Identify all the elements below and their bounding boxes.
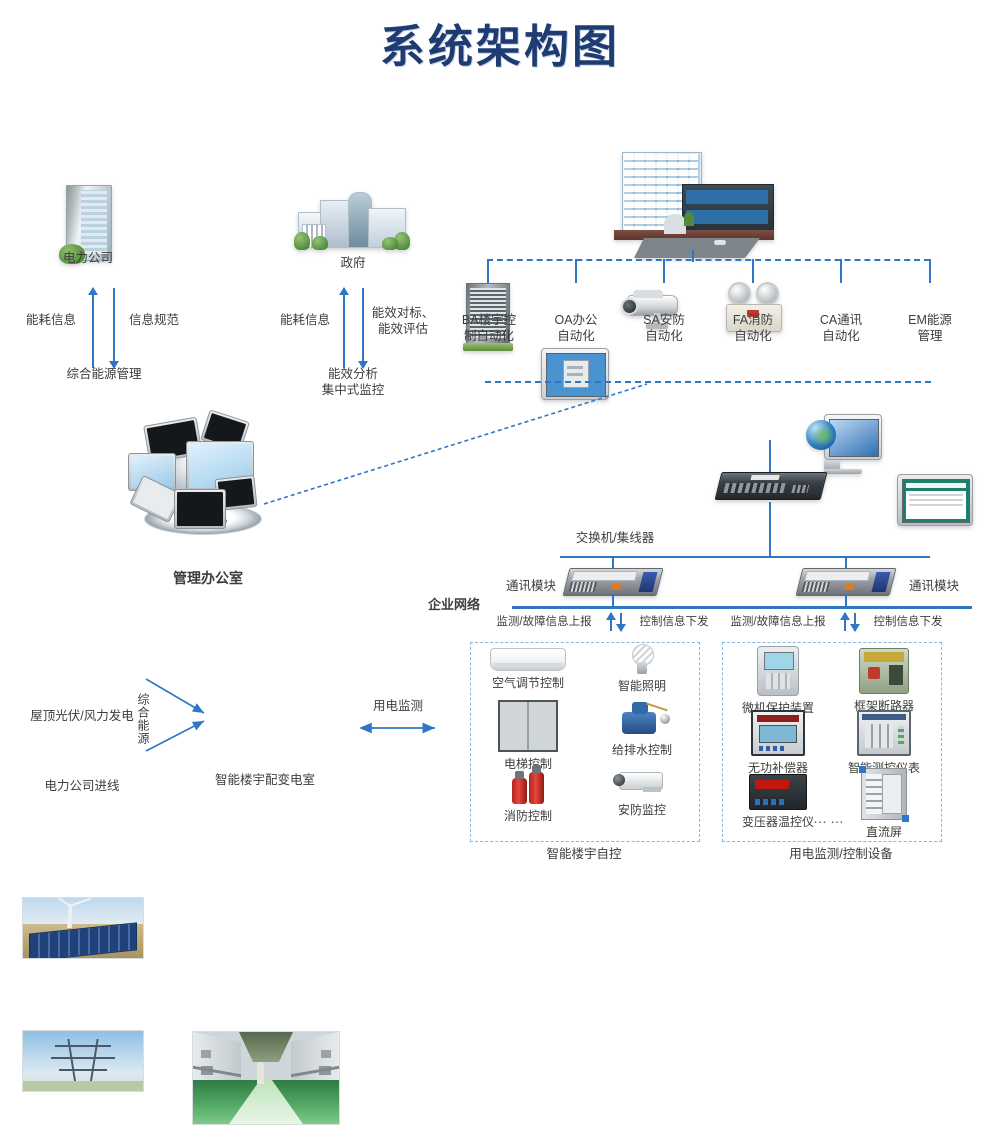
enterprise-network-label: 企业网络 bbox=[428, 597, 508, 613]
power-up-arrow bbox=[92, 288, 94, 368]
device-dc-panel: 直流屏 bbox=[828, 768, 940, 840]
surveillance-camera-icon bbox=[613, 768, 671, 798]
management-office-icon bbox=[128, 415, 278, 540]
comm-module-left-icon bbox=[566, 568, 662, 598]
comm-module-right-label: 通讯模块 bbox=[897, 578, 971, 594]
power-company-label: 电力公司 bbox=[30, 250, 146, 266]
automation-label-sa: SA安防 自动化 bbox=[618, 312, 710, 344]
device-fire-control: 消防控制 bbox=[472, 762, 584, 824]
comm-module-right-icon bbox=[799, 568, 895, 598]
mo-screen-7 bbox=[174, 489, 226, 529]
power-up-label: 能耗信息 bbox=[18, 312, 84, 328]
elevator-icon bbox=[498, 700, 558, 752]
switch-label: 交换机/集线器 bbox=[535, 530, 695, 546]
flow-up-arrow-2 bbox=[844, 613, 846, 631]
power-down-arrow bbox=[113, 288, 115, 368]
network-switch-icon bbox=[718, 472, 828, 502]
comm-distribution-bus bbox=[560, 556, 930, 558]
flow-down-arrow-2 bbox=[854, 613, 856, 631]
automation-label-em: EM能源 管理 bbox=[884, 312, 976, 344]
transformer-temp-controller-icon bbox=[749, 774, 807, 810]
automation-label-oa: OA办公 自动化 bbox=[530, 312, 622, 344]
device-security-monitoring: 安防监控 bbox=[586, 768, 698, 818]
enterprise-network-bus bbox=[512, 606, 972, 609]
circuit-breaker-icon bbox=[859, 648, 909, 694]
rooftop-pv-label: 屋顶光伏/风力发电 bbox=[12, 708, 152, 724]
device-air-conditioner: 空气调节控制 bbox=[472, 648, 584, 691]
page-title: 系统架构图 bbox=[0, 10, 1000, 75]
globe-monitor-icon bbox=[812, 414, 1000, 474]
bus-drop-6 bbox=[929, 259, 931, 283]
bus-drop-3 bbox=[663, 259, 665, 283]
substation-label: 智能楼宇配变电室 bbox=[190, 772, 340, 788]
flow-down-label-2: 控制信息下发 bbox=[860, 615, 956, 629]
automation-label-ca: CA通讯 自动化 bbox=[795, 312, 887, 344]
power-grid-incoming-icon bbox=[22, 1030, 144, 1092]
rooftop-pv-wind-icon bbox=[22, 897, 144, 959]
office-network-link bbox=[262, 378, 682, 508]
bus-drop-4 bbox=[752, 259, 754, 283]
air-conditioner-icon bbox=[490, 648, 566, 671]
reactive-compensator-icon bbox=[751, 710, 805, 756]
government-icon bbox=[298, 190, 408, 250]
automation-label-ba: BA楼宇控 制自动化 bbox=[443, 312, 535, 344]
gov-down-arrow bbox=[362, 288, 364, 368]
gov-down-label: 能效对标、 能效评估 bbox=[368, 305, 438, 337]
flow-up-label-2: 监测/故障信息上报 bbox=[718, 615, 838, 629]
power-grid-label: 电力公司进线 bbox=[22, 778, 142, 794]
substation-icon bbox=[192, 1031, 340, 1125]
device-label: 消防控制 bbox=[472, 807, 584, 824]
flow-up-arrow-1 bbox=[610, 613, 612, 631]
bus-drop-2 bbox=[575, 259, 577, 283]
energy-converge-arrows bbox=[140, 675, 220, 785]
power-down-label: 信息规范 bbox=[121, 312, 187, 328]
flow-down-arrow-1 bbox=[620, 613, 622, 631]
management-office-label: 管理办公室 bbox=[138, 570, 278, 586]
comm-right-downlink bbox=[845, 594, 847, 606]
fire-extinguisher-icon bbox=[504, 762, 552, 804]
government-label: 政府 bbox=[296, 255, 410, 271]
device-label: 空气调节控制 bbox=[472, 674, 584, 691]
power-monitor-label: 用电监测 bbox=[358, 698, 438, 714]
comm-left-downlink bbox=[612, 594, 614, 606]
gov-up-arrow bbox=[343, 288, 345, 368]
building-automation-caption: 智能楼宇自控 bbox=[514, 846, 654, 862]
comm-module-left-label: 通讯模块 bbox=[494, 578, 568, 594]
device-protection-relay: 微机保护装置 bbox=[722, 646, 834, 716]
integrated-energy-mgmt-label: 综合能源管理 bbox=[32, 366, 176, 382]
office-building-icon bbox=[608, 150, 778, 258]
flow-down-label-1: 控制信息下发 bbox=[626, 615, 722, 629]
automation-label-fa: FA消防 自动化 bbox=[707, 312, 799, 344]
device-label: 安防监控 bbox=[586, 801, 698, 818]
dc-panel-icon bbox=[861, 768, 907, 820]
power-panel-ellipsis: …… bbox=[800, 810, 860, 826]
power-monitoring-caption: 用电监测/控制设备 bbox=[761, 846, 921, 862]
device-reactive-compensator: 无功补偿器 bbox=[722, 710, 834, 776]
automation-bus bbox=[487, 259, 930, 261]
device-label: 给排水控制 bbox=[586, 741, 698, 758]
bus-drop-1 bbox=[487, 259, 489, 283]
power-monitor-arrow bbox=[355, 722, 441, 736]
protection-relay-icon bbox=[757, 646, 799, 696]
device-circuit-breaker: 框架断路器 bbox=[828, 648, 940, 714]
bus-drop-5 bbox=[840, 259, 842, 283]
device-label: 智能照明 bbox=[586, 677, 698, 694]
light-bulb-icon bbox=[629, 644, 655, 674]
switch-downlink bbox=[769, 502, 771, 556]
integrated-energy-arrow-label: 综合能源 bbox=[135, 693, 152, 745]
flow-up-label-1: 监测/故障信息上报 bbox=[484, 615, 604, 629]
device-water-supply: 给排水控制 bbox=[586, 702, 698, 758]
water-valve-icon bbox=[616, 702, 668, 738]
energy-monitor-icon bbox=[897, 474, 1000, 540]
device-smart-meter: 智能测控仪表 bbox=[828, 710, 940, 776]
device-smart-lighting: 智能照明 bbox=[586, 644, 698, 694]
gov-up-label: 能耗信息 bbox=[272, 312, 338, 328]
smart-meter-icon bbox=[857, 710, 911, 756]
